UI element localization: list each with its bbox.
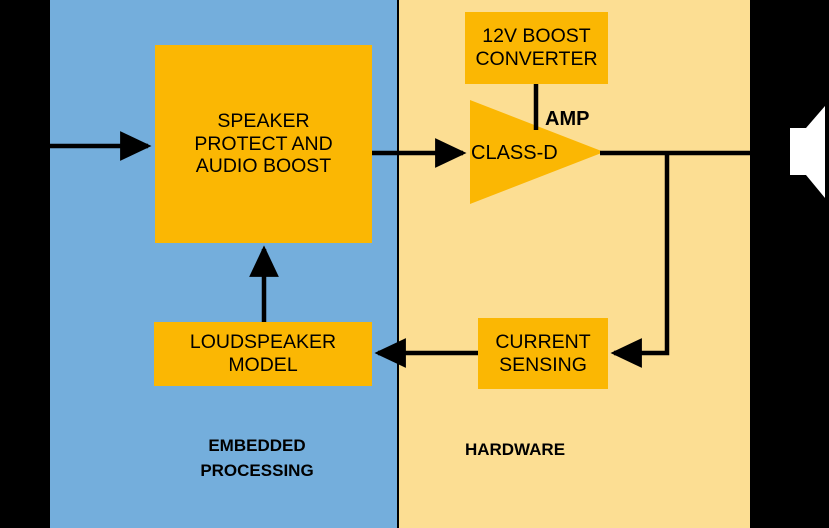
amp-label: AMP [545, 108, 589, 131]
block-12v-boost-converter[interactable]: 12V BOOST CONVERTER [465, 12, 608, 84]
diagram-canvas: SPEAKER PROTECT AND AUDIO BOOST LOUDSPEA… [0, 0, 829, 528]
block-boost-converter-label: 12V BOOST CONVERTER [475, 25, 597, 70]
block-loudspeaker-model[interactable]: LOUDSPEAKER MODEL [154, 322, 372, 386]
zone-embedded-processing-caption: EMBEDDED PROCESSING [150, 434, 364, 483]
block-loudspeaker-model-label: LOUDSPEAKER MODEL [190, 331, 336, 376]
zone-hardware-caption: HARDWARE [420, 438, 610, 463]
block-speaker-protect-and-audio-boost[interactable]: SPEAKER PROTECT AND AUDIO BOOST [155, 45, 372, 243]
speaker-icon [786, 104, 829, 200]
block-current-sensing[interactable]: CURRENT SENSING [478, 318, 608, 389]
block-current-sensing-label: CURRENT SENSING [495, 331, 590, 376]
block-speaker-protect-label: SPEAKER PROTECT AND AUDIO BOOST [194, 110, 332, 178]
class-d-amp-label: CLASS-D [471, 142, 558, 165]
